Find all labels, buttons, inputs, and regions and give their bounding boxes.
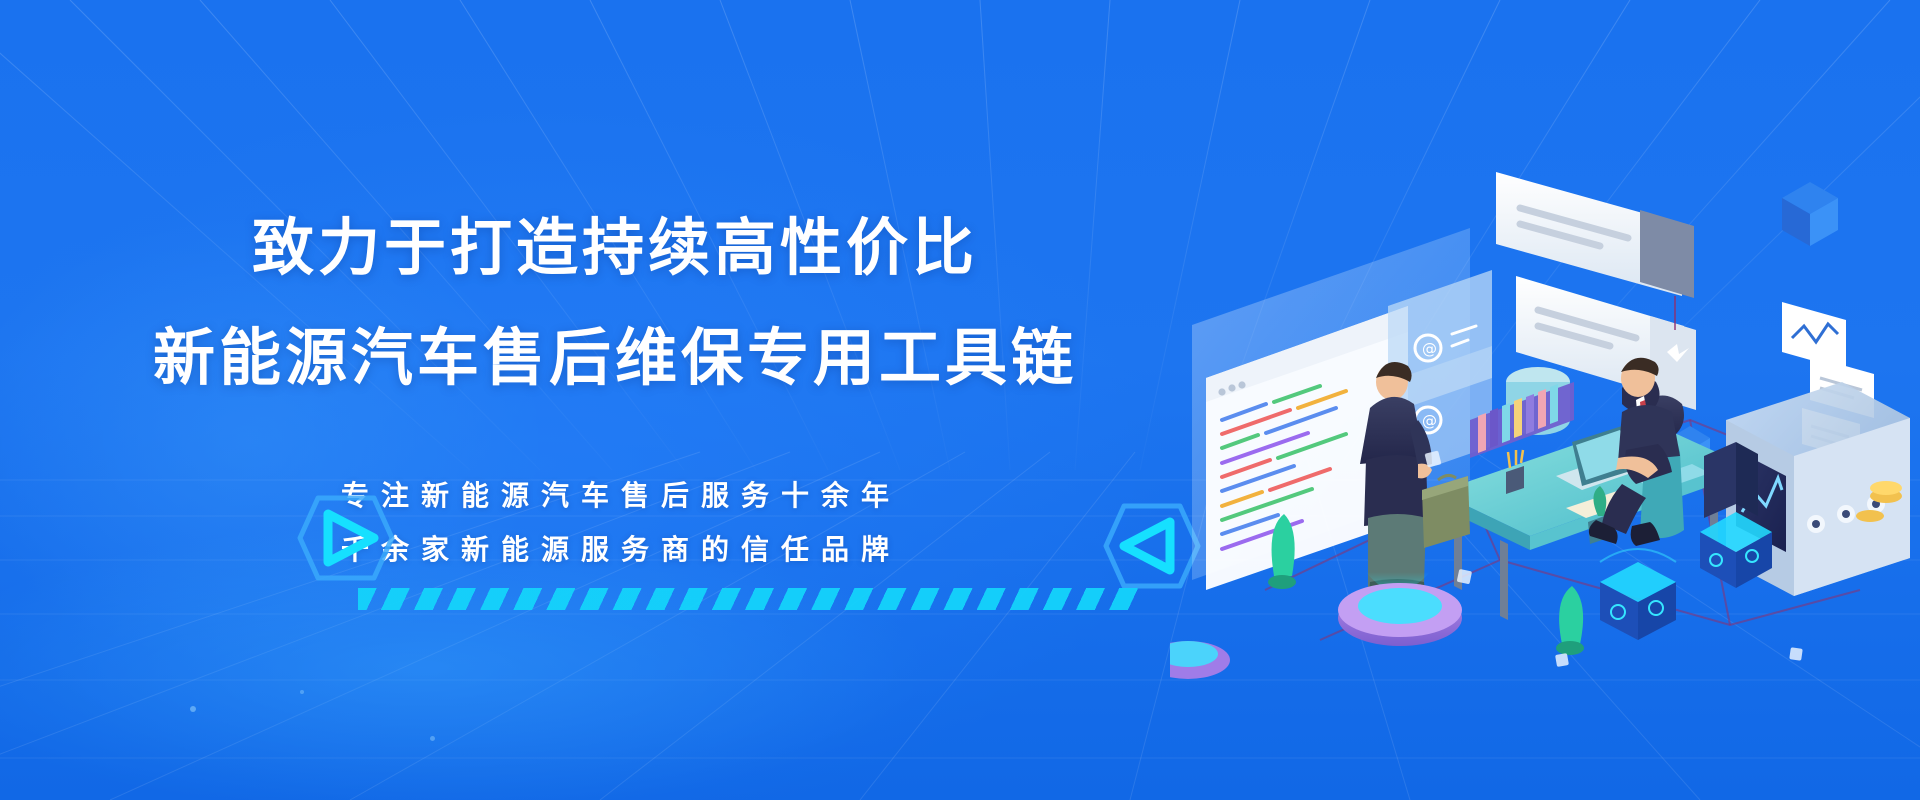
subtitle-line-2: 千余家新能源服务商的信任品牌 <box>0 528 1230 572</box>
holo-cube-left <box>1600 549 1676 640</box>
floor-spark-3 <box>300 690 304 694</box>
subtitle-line-1: 专注新能源汽车售后服务十余年 <box>0 474 1230 518</box>
svg-text:@: @ <box>1422 340 1437 358</box>
floor-spark-1 <box>190 706 196 712</box>
holo-floor-disc <box>1170 641 1230 679</box>
hero-banner: 致力于打造持续高性价比 新能源汽车售后维保专用工具链 专注新能源汽车售后服务十余… <box>0 0 1920 800</box>
headline-line-1: 致力于打造持续高性价比 <box>0 212 1230 284</box>
diagonal-stripe-bar <box>358 588 1140 610</box>
floor-spark-2 <box>430 736 435 741</box>
headline-line-2: 新能源汽车售后维保专用工具链 <box>0 322 1230 394</box>
holographic-pedestal <box>1338 583 1462 646</box>
floating-cube-icon <box>1782 182 1838 246</box>
play-triangle-right-icon <box>292 490 400 586</box>
banner-copy: 致力于打造持续高性价比 新能源汽车售后维保专用工具链 专注新能源汽车售后服务十余… <box>0 0 1230 800</box>
potted-plant-2 <box>1556 586 1584 655</box>
isometric-office-teamwork-illustration: @ @ <box>1170 120 1910 700</box>
svg-text:@: @ <box>1422 412 1437 430</box>
